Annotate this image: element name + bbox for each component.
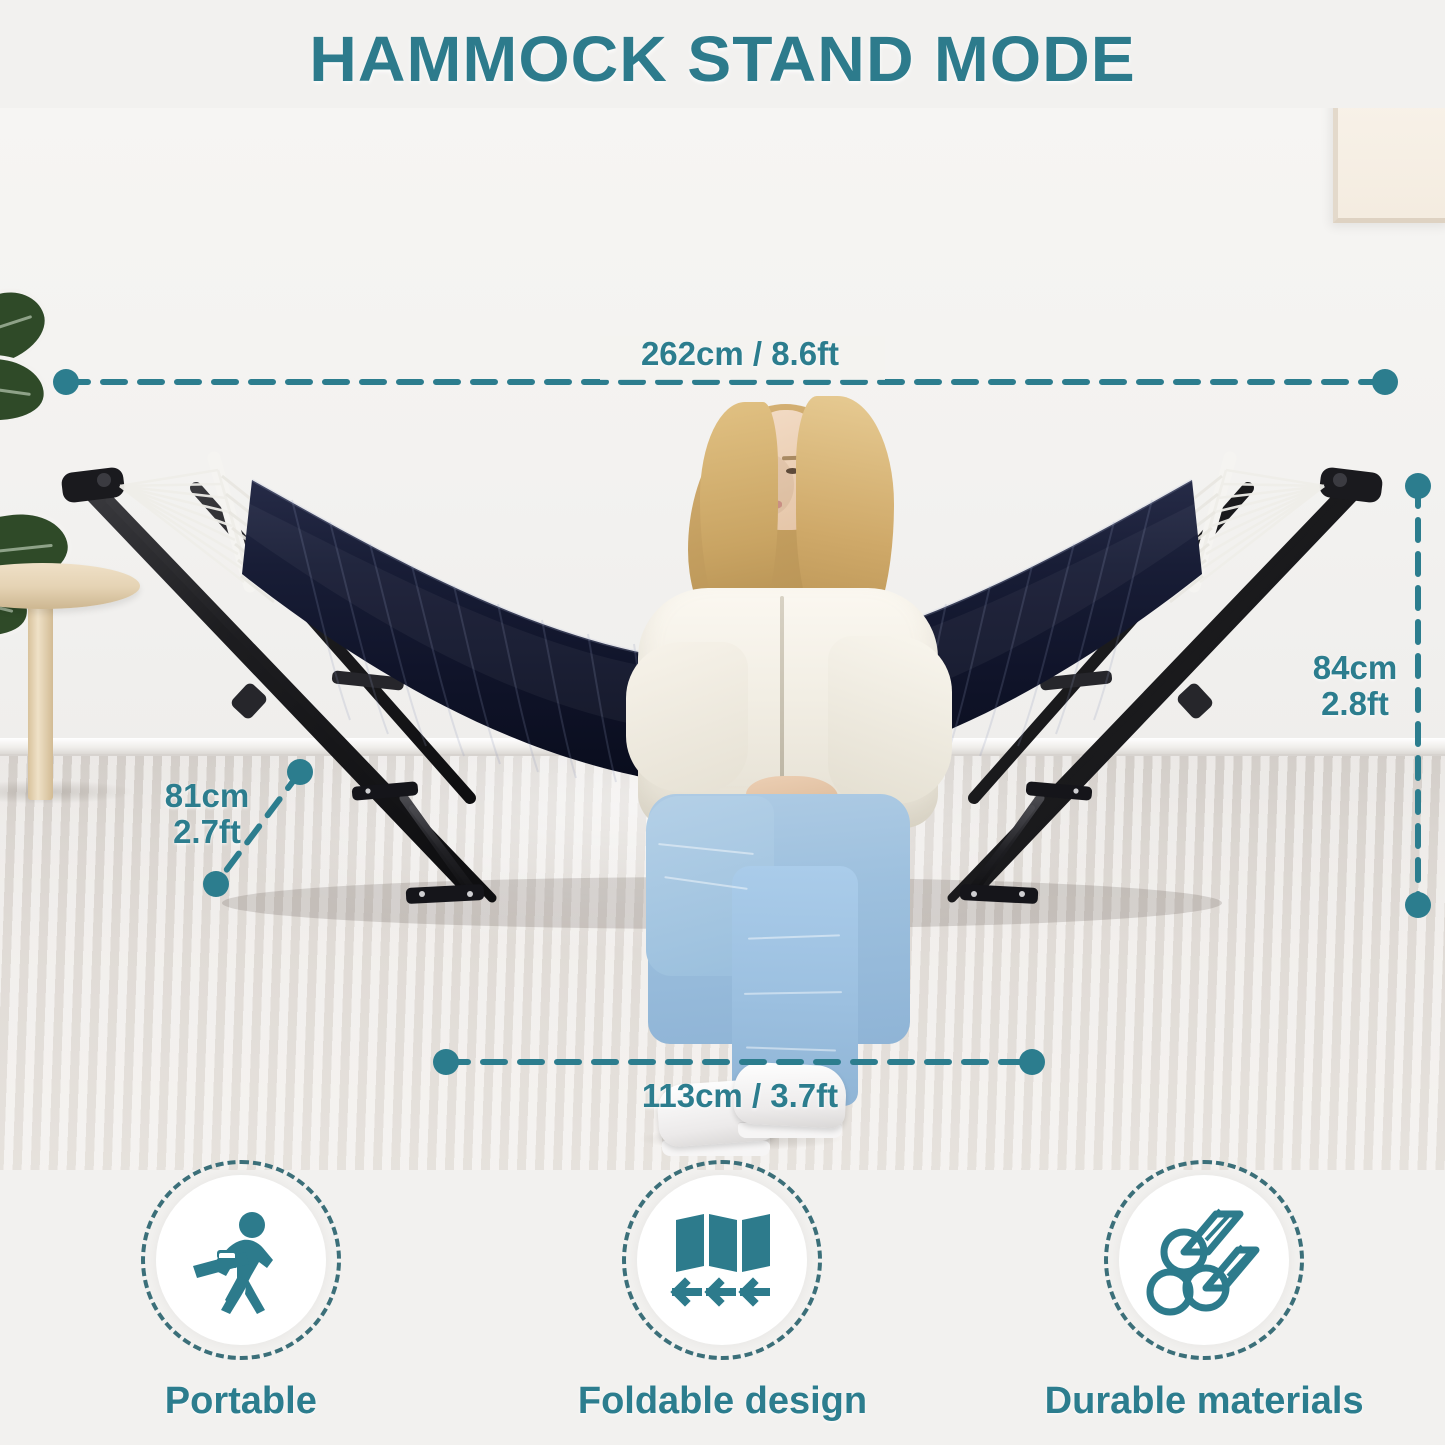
feature-list: Portable Folda <box>0 1160 1445 1445</box>
stacked-logs-icon <box>1144 1200 1264 1320</box>
page-title: HAMMOCK STAND MODE <box>0 22 1445 96</box>
person-seated <box>620 396 950 1056</box>
hoodie-sleeve-left <box>626 642 748 792</box>
feature-durable[interactable]: Durable materials <box>1004 1160 1404 1423</box>
feature-badge <box>622 1160 822 1360</box>
feature-foldable[interactable]: Foldable design <box>522 1160 922 1423</box>
badge-inner <box>637 1175 807 1345</box>
folding-panels-arrows-icon <box>662 1200 782 1320</box>
badge-inner <box>156 1175 326 1345</box>
feature-badge <box>1104 1160 1304 1360</box>
dimension-label-depth: 81cm 2.7ft <box>142 778 272 849</box>
dimension-label-width: 262cm / 8.6ft <box>560 336 920 372</box>
feature-badge <box>141 1160 341 1360</box>
infographic-stage: HAMMOCK STAND MODE <box>0 0 1445 1445</box>
feature-label: Foldable design <box>578 1380 867 1423</box>
dimension-label-height: 84cm 2.8ft <box>1300 650 1410 721</box>
hoodie-sleeve-right <box>828 636 952 804</box>
person-carrying-case-icon <box>181 1200 301 1320</box>
product-photo <box>0 108 1445 1170</box>
feature-portable[interactable]: Portable <box>41 1160 441 1423</box>
dimension-label-base-width: 113cm / 3.7ft <box>560 1078 920 1114</box>
badge-inner <box>1119 1175 1289 1345</box>
hoodie-zipper <box>780 596 784 782</box>
feature-label: Durable materials <box>1045 1380 1364 1423</box>
feature-label: Portable <box>165 1380 317 1423</box>
